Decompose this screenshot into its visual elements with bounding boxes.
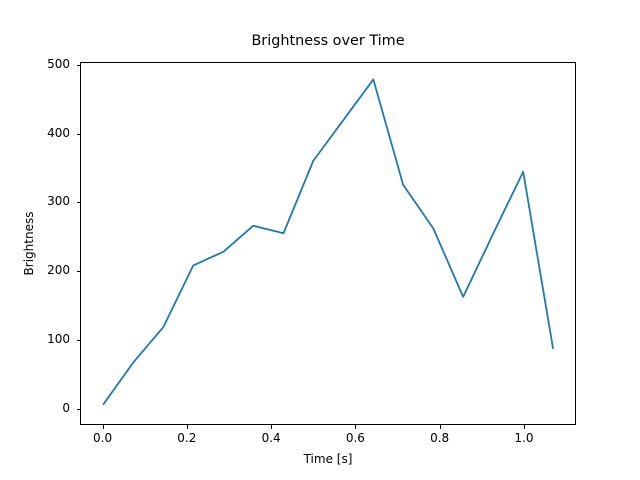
y-tick-label: 400 <box>10 126 70 140</box>
y-tick-label: 500 <box>10 57 70 71</box>
x-axis-label: Time [s] <box>80 452 576 466</box>
y-tick-label: 100 <box>10 332 70 346</box>
plot-axes <box>80 62 576 425</box>
x-tick-mark <box>355 425 356 429</box>
x-tick-label: 0.2 <box>157 431 217 445</box>
x-tick-mark <box>440 425 441 429</box>
y-axis-label: Brightness <box>22 62 36 425</box>
chart-title: Brightness over Time <box>80 33 576 50</box>
x-tick-label: 0.6 <box>325 431 385 445</box>
matplotlib-figure: Brightness over Time Brightness Time [s]… <box>0 0 640 480</box>
y-tick-label: 300 <box>10 194 70 208</box>
y-tick-label: 200 <box>10 263 70 277</box>
x-tick-mark <box>524 425 525 429</box>
line-plot-svg <box>81 63 575 424</box>
x-tick-mark <box>103 425 104 429</box>
x-tick-label: 1.0 <box>494 431 554 445</box>
x-tick-label: 0.8 <box>410 431 470 445</box>
x-tick-label: 0.0 <box>73 431 133 445</box>
x-tick-mark <box>187 425 188 429</box>
x-tick-mark <box>271 425 272 429</box>
x-tick-label: 0.4 <box>241 431 301 445</box>
brightness-data-line <box>103 79 553 404</box>
y-tick-label: 0 <box>10 401 70 415</box>
